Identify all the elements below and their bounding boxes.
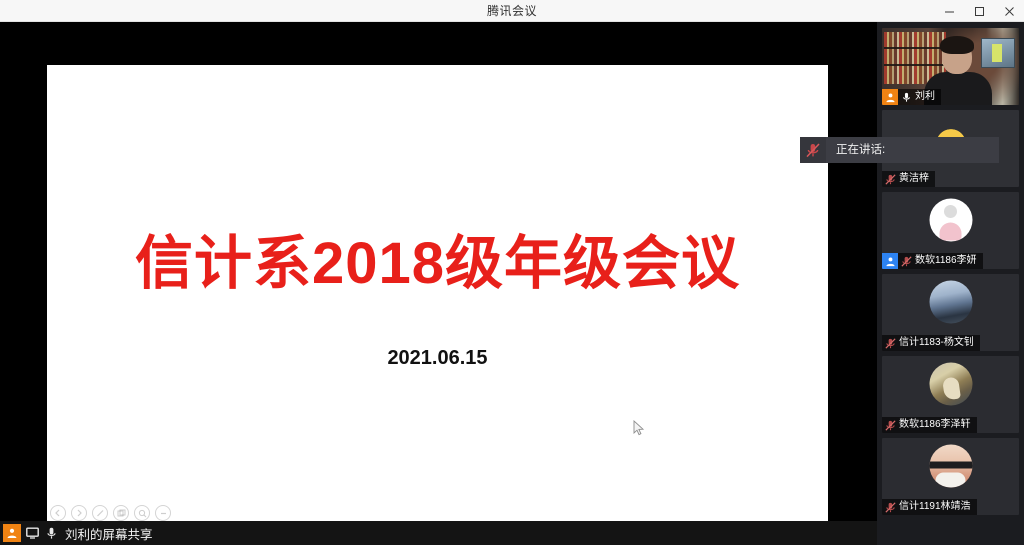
participant-tile[interactable]: 信计1191林靖浩 (882, 438, 1019, 515)
slide-date: 2021.06.15 (47, 347, 828, 370)
avatar (929, 199, 972, 242)
mic-on-icon (44, 526, 59, 541)
host-badge-icon (882, 89, 898, 105)
avatar (929, 281, 972, 324)
participant-name-pill: 数软1186李妍 (898, 253, 983, 269)
participant-tile[interactable]: 数软1186李妍 (882, 192, 1019, 269)
pen-icon (96, 509, 105, 518)
participant-name: 信计1183-杨文钊 (899, 335, 974, 351)
chevron-left-icon (54, 509, 62, 517)
participant-tile[interactable]: 信计1183-杨文钊 (882, 274, 1019, 351)
avatar (929, 363, 972, 406)
ppt-next-button[interactable] (71, 505, 87, 521)
participant-namebar: 信计1183-杨文钊 (882, 335, 980, 351)
person-icon (885, 92, 896, 103)
ppt-more-button[interactable] (155, 505, 171, 521)
microphone-muted-icon (885, 338, 896, 349)
screen-share-icon (25, 526, 40, 541)
participant-tile[interactable]: 数软1186李泽轩 (882, 356, 1019, 433)
mic-muted-icon (885, 338, 896, 349)
participant-namebar: 刘利 (882, 89, 941, 105)
microphone-icon (46, 527, 57, 540)
microphone-muted-icon (901, 256, 912, 267)
participant-rail[interactable]: 刘利 黄洁梓 (877, 22, 1024, 545)
monitor-screen (992, 44, 1002, 62)
close-button[interactable] (994, 0, 1024, 22)
shared-screen-area[interactable]: 信计系2018级年级会议 2021.06.15 (0, 22, 877, 521)
maximize-icon (974, 6, 985, 17)
slide-title: 信计系2018级年级会议 (47, 235, 828, 293)
participant-name: 信计1191林靖浩 (899, 499, 971, 515)
presentation-slide[interactable]: 信计系2018级年级会议 2021.06.15 (47, 65, 828, 521)
participant-name: 数软1186李泽轩 (899, 417, 971, 433)
participant-name-pill: 黄洁梓 (882, 171, 935, 187)
monitor-prop (981, 38, 1015, 68)
person-hair (940, 36, 974, 54)
avatar (929, 445, 972, 488)
participant-name-pill: 信计1183-杨文钊 (882, 335, 980, 351)
window-title: 腾讯会议 (487, 2, 537, 19)
participant-name-pill: 刘利 (898, 89, 941, 105)
screen-share-status-bar: 刘利的屏幕共享 (0, 521, 877, 545)
speaking-label-box: 正在讲话: (826, 137, 999, 163)
speaking-indicator: 正在讲话: (800, 137, 999, 163)
mic-muted-icon (806, 143, 820, 158)
mic-muted-icon (885, 502, 896, 513)
microphone-muted-icon (885, 174, 896, 185)
participant-name-pill: 信计1191林靖浩 (882, 499, 977, 515)
ppt-presenter-toolbar[interactable] (50, 505, 171, 521)
microphone-muted-icon (885, 502, 896, 513)
person-icon (6, 527, 18, 539)
minimize-button[interactable] (934, 0, 964, 22)
meeting-window: 腾讯会议 信计系2018级年级会议 (0, 0, 1024, 545)
participant-tile[interactable]: 刘利 (882, 28, 1019, 105)
participant-namebar: 黄洁梓 (882, 171, 935, 187)
mic-muted-icon (885, 420, 896, 431)
speaking-label: 正在讲话: (836, 137, 885, 163)
close-icon (1004, 6, 1015, 17)
participant-namebar: 信计1191林靖浩 (882, 499, 977, 515)
zoom-in-icon (138, 509, 147, 518)
slides-icon (117, 509, 126, 518)
minimize-icon (944, 6, 955, 17)
chevron-right-icon (75, 509, 83, 517)
ppt-previous-button[interactable] (50, 505, 66, 521)
speaking-mic-icon (800, 137, 826, 163)
person-icon (885, 256, 896, 267)
participant-name-pill: 数软1186李泽轩 (882, 417, 977, 433)
participant-namebar: 数软1186李妍 (882, 253, 983, 269)
microphone-muted-icon (885, 420, 896, 431)
host-badge-icon (3, 524, 21, 542)
participant-name: 刘利 (915, 89, 935, 105)
title-bar: 腾讯会议 (0, 0, 1024, 22)
participant-name: 黄洁梓 (899, 171, 929, 187)
shelf-divider (884, 64, 946, 66)
maximize-button[interactable] (964, 0, 994, 22)
mic-muted-icon (885, 174, 896, 185)
microphone-icon (902, 92, 911, 103)
monitor-icon (26, 527, 39, 539)
ppt-zoom-button[interactable] (134, 505, 150, 521)
participant-namebar: 数软1186李泽轩 (882, 417, 977, 433)
cohost-badge-icon (882, 253, 898, 269)
mic-on-icon (901, 92, 912, 103)
mic-muted-icon (901, 256, 912, 267)
window-controls (934, 0, 1024, 22)
ppt-pen-button[interactable] (92, 505, 108, 521)
ppt-all-slides-button[interactable] (113, 505, 129, 521)
more-icon (159, 509, 168, 518)
screen-share-label: 刘利的屏幕共享 (65, 524, 153, 543)
shelf-divider (884, 47, 946, 49)
participant-name: 数软1186李妍 (915, 253, 977, 269)
